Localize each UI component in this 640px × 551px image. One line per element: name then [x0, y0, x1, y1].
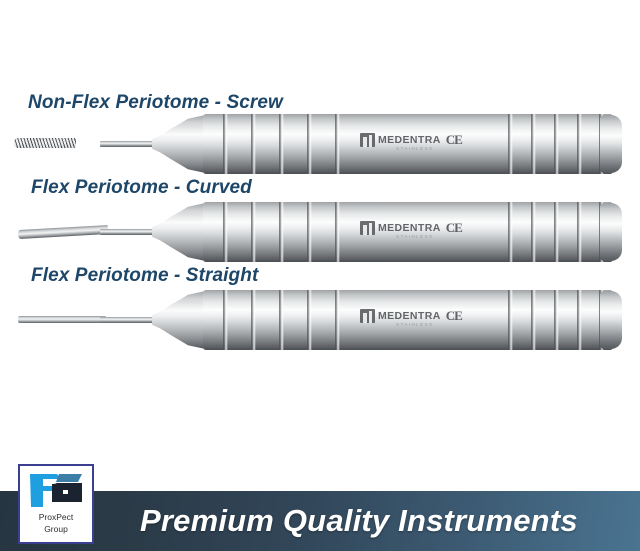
grip-ring: [577, 202, 580, 262]
grip-ring: [531, 202, 534, 262]
brand-name: MEDENTRA: [378, 223, 441, 234]
ce-mark-icon: CE: [446, 308, 462, 324]
grip-ring: [554, 202, 557, 262]
company-name-line2: Group: [44, 524, 68, 535]
grip-ring: [577, 290, 580, 350]
grip-ring: [335, 290, 338, 350]
company-logo: ProxPect Group: [18, 464, 94, 544]
grip-ring: [335, 202, 338, 262]
brand-name: MEDENTRA: [378, 311, 441, 322]
grip-ring: [251, 202, 254, 262]
grip-ring: [279, 202, 282, 262]
ce-mark-icon: CE: [446, 132, 462, 148]
screw-tip-icon: [14, 138, 76, 148]
grip-ring: [279, 114, 282, 174]
grip-ring: [335, 114, 338, 174]
grip-ring: [577, 114, 580, 174]
company-name-line1: ProxPect: [39, 512, 74, 523]
brand-subtitle: STAINLESS: [396, 234, 434, 239]
instrument-butt-cap: [600, 203, 622, 261]
grip-ring: [223, 114, 226, 174]
instrument-butt-cap: [600, 291, 622, 349]
brand-imprint: MEDENTRA STAINLESS CE: [360, 132, 462, 148]
instrument-periotome-screw: MEDENTRA STAINLESS CE: [0, 110, 640, 182]
ce-mark-icon: CE: [446, 220, 462, 236]
product-image-canvas: Non-Flex Periotome - Screw Flex Periotom…: [0, 0, 640, 551]
grip-ring: [508, 114, 511, 174]
instrument-butt-cap: [600, 115, 622, 173]
grip-ring: [508, 290, 511, 350]
grip-ring: [531, 114, 534, 174]
brand-name: MEDENTRA: [378, 135, 441, 146]
grip-ring: [554, 114, 557, 174]
medentra-logo-icon: [360, 309, 375, 323]
brand-imprint: MEDENTRA STAINLESS CE: [360, 308, 462, 324]
grip-ring: [508, 202, 511, 262]
medentra-logo-icon: [360, 133, 375, 147]
brand-subtitle: STAINLESS: [396, 146, 434, 151]
brand-imprint: MEDENTRA STAINLESS CE: [360, 220, 462, 236]
brand-subtitle: STAINLESS: [396, 322, 434, 327]
grip-ring: [307, 290, 310, 350]
grip-ring: [554, 290, 557, 350]
instrument-periotome-curved: MEDENTRA STAINLESS CE: [0, 198, 640, 270]
grip-ring: [251, 114, 254, 174]
medentra-logo-icon: [360, 221, 375, 235]
instrument-cone: [152, 202, 210, 262]
grip-ring: [251, 290, 254, 350]
banner-tagline: Premium Quality Instruments: [140, 503, 578, 539]
instrument-cone: [152, 290, 210, 350]
pg-monogram-icon: [26, 471, 86, 511]
grip-ring: [531, 290, 534, 350]
footer-banner: Premium Quality Instruments: [0, 491, 640, 551]
straight-tip-icon: [18, 316, 106, 323]
instrument-cone: [152, 114, 210, 174]
instrument-periotome-straight: MEDENTRA STAINLESS CE: [0, 286, 640, 358]
grip-ring: [223, 202, 226, 262]
grip-ring: [307, 114, 310, 174]
grip-ring: [223, 290, 226, 350]
grip-ring: [279, 290, 282, 350]
curved-tip-icon: [18, 225, 108, 239]
grip-ring: [307, 202, 310, 262]
